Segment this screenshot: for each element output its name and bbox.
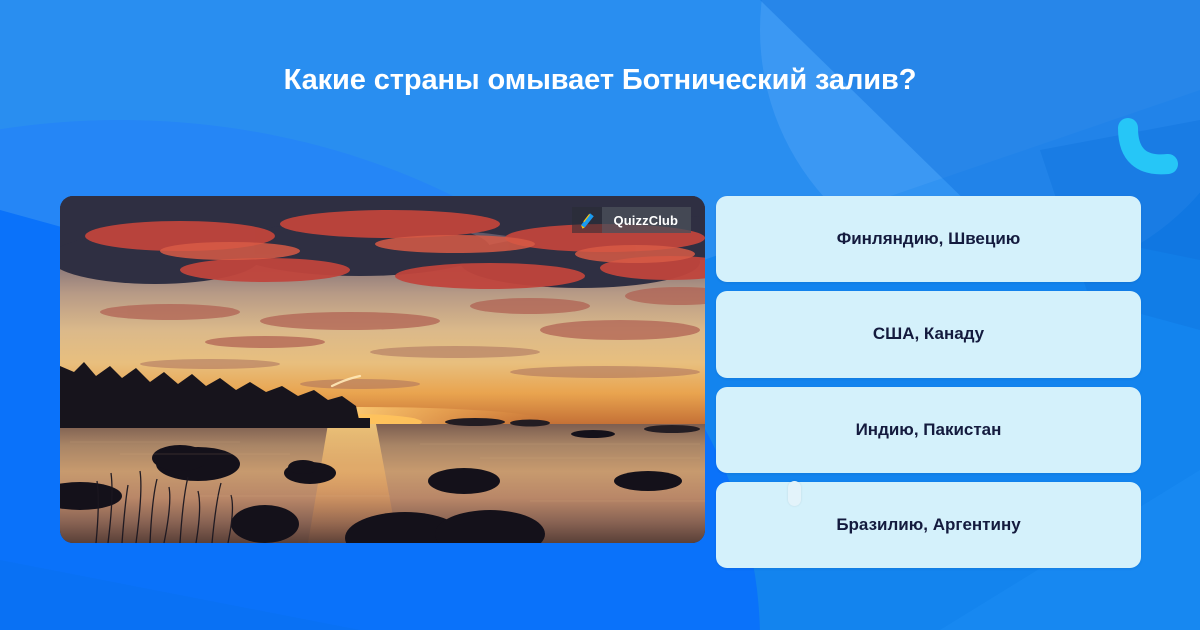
answer-option-a[interactable]: Финляндию, Швецию (716, 196, 1141, 282)
page-title: Какие страны омывает Ботнический залив? (244, 63, 957, 98)
answer-option-c[interactable]: Индию, Пакистан (716, 387, 1141, 473)
sunset-bay-photo (60, 196, 705, 543)
answer-option-b[interactable]: США, Канаду (716, 291, 1141, 377)
answer-option-d[interactable]: Бразилию, Аргентину (716, 482, 1141, 568)
question-header: Какие страны омывает Ботнический залив? (0, 0, 1200, 160)
question-image-card: QuizzClub (60, 196, 705, 543)
scroll-handle[interactable] (788, 481, 801, 506)
graduation-cap-icon (572, 207, 602, 233)
brand-name: QuizzClub (602, 207, 691, 233)
quiz-stage: QuizzClub Финляндию, Швецию США, Канаду … (0, 160, 1200, 630)
answer-options-list: Финляндию, Швецию США, Канаду Индию, Пак… (716, 196, 1141, 568)
brand-watermark: QuizzClub (572, 207, 691, 233)
